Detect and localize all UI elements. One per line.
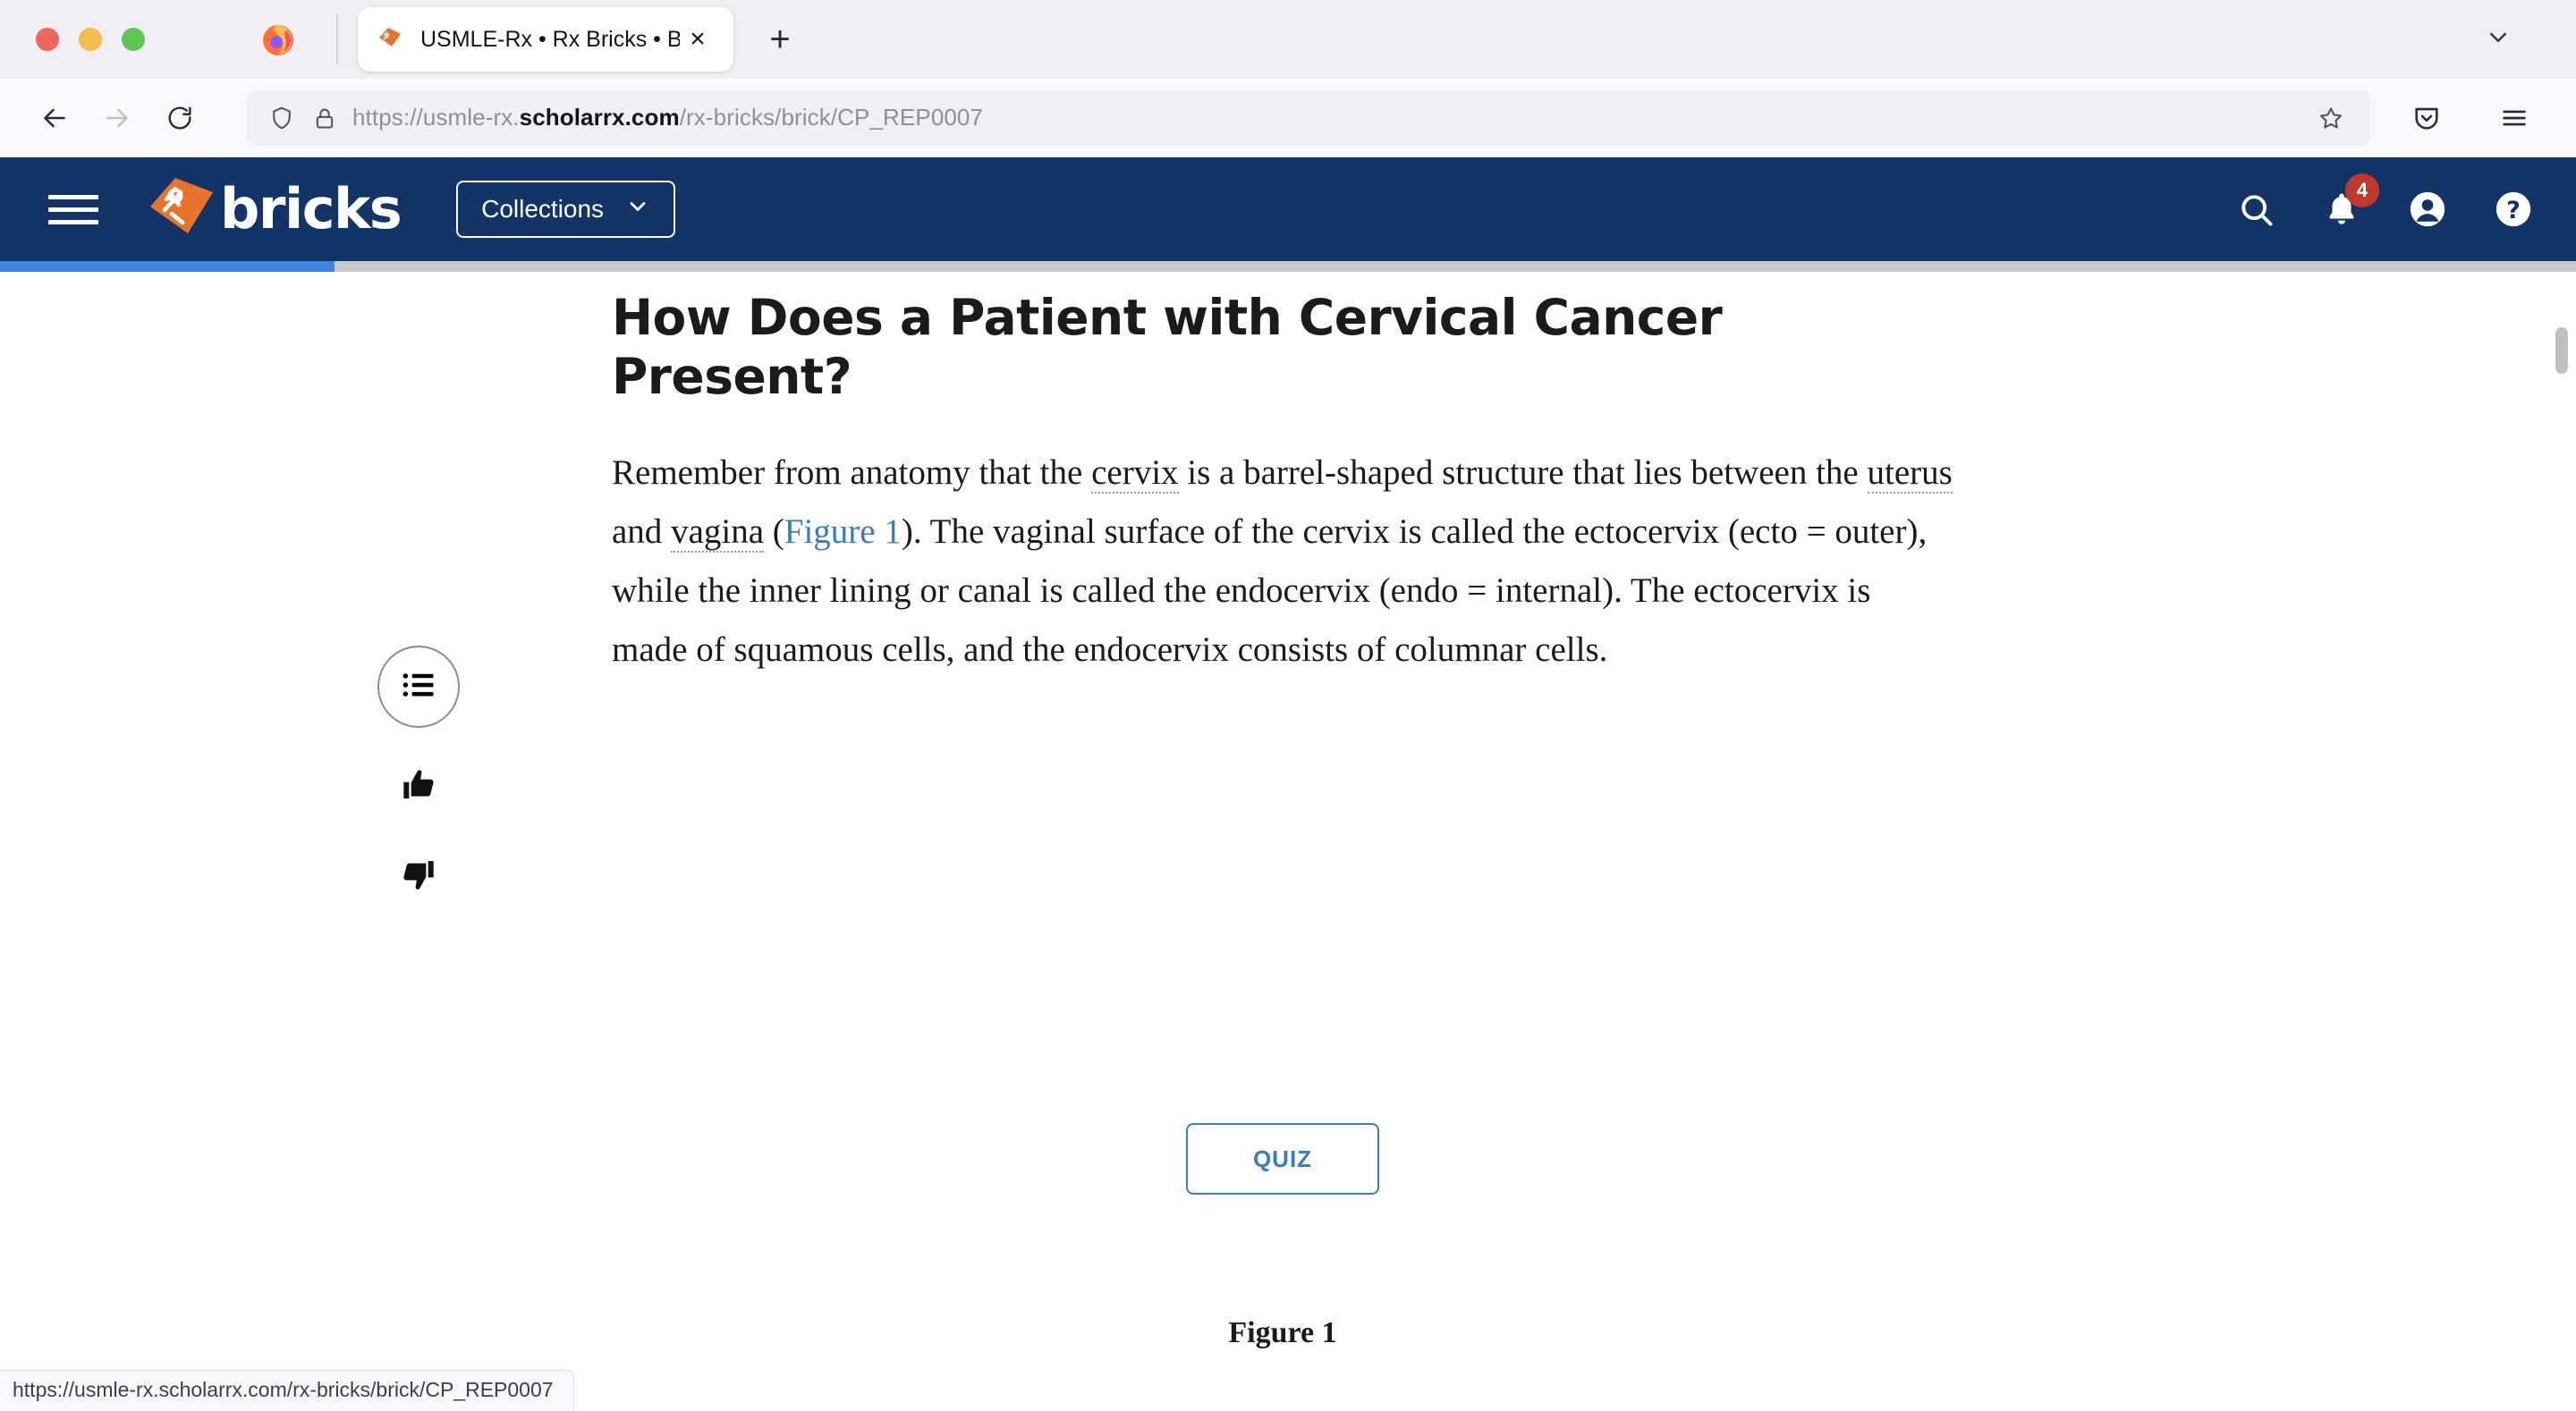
chevron-down-icon: [625, 194, 650, 225]
article-paragraph-1: Remember from anatomy that the cervix is…: [612, 444, 1953, 680]
account-icon[interactable]: [2406, 188, 2449, 231]
scrollbar-thumb[interactable]: [2555, 327, 2568, 374]
url-path: /rx-bricks/brick/CP_REP0007: [680, 104, 983, 131]
minimize-window-button[interactable]: [79, 28, 102, 51]
web-page: bricks Collections: [0, 157, 2576, 1411]
article-body: How Does a Patient with Cervical Cancer …: [612, 272, 1953, 680]
glossary-term-vagina[interactable]: vagina: [671, 512, 764, 553]
navigation-toolbar: https://usmle-rx.scholarrx.com/rx-bricks…: [0, 79, 2576, 157]
site-menu-button[interactable]: [48, 195, 98, 224]
text-segment: and: [612, 512, 671, 551]
quiz-button[interactable]: QUIZ: [1186, 1123, 1379, 1195]
collections-label: Collections: [481, 195, 604, 224]
url-text[interactable]: https://usmle-rx.scholarrx.com/rx-bricks…: [352, 104, 2311, 131]
thumbs-up-button[interactable]: [392, 760, 445, 814]
svg-text:?: ?: [2506, 197, 2521, 224]
pocket-save-icon[interactable]: [2399, 90, 2454, 146]
page-content: How Does a Patient with Cervical Cancer …: [0, 272, 2576, 1411]
tab-strip: USMLE-Rx • Rx Bricks • Brick × +: [0, 0, 2576, 79]
quiz-section: QUIZ: [612, 1123, 1953, 1195]
notifications-bell-icon[interactable]: 4: [2320, 188, 2363, 231]
list-icon: [399, 665, 438, 709]
thumbs-down-button[interactable]: [392, 849, 445, 903]
back-button[interactable]: [27, 90, 82, 146]
status-bar-url: https://usmle-rx.scholarrx.com/rx-bricks…: [0, 1370, 574, 1411]
reload-button[interactable]: [152, 90, 208, 146]
site-header: bricks Collections: [0, 157, 2576, 261]
address-bar[interactable]: https://usmle-rx.scholarrx.com/rx-bricks…: [247, 90, 2370, 146]
tab-favicon-icon: [376, 25, 404, 54]
list-all-tabs-icon[interactable]: [2483, 22, 2513, 57]
bookmark-star-icon[interactable]: [2311, 98, 2351, 138]
window-controls: [36, 28, 145, 51]
new-tab-button[interactable]: +: [757, 16, 803, 63]
text-segment: is a barrel-shaped structure that lies b…: [1179, 453, 1868, 492]
browser-tab[interactable]: USMLE-Rx • Rx Bricks • Brick ×: [358, 7, 733, 72]
help-icon[interactable]: ?: [2492, 188, 2535, 231]
tab-divider: [336, 14, 338, 64]
browser-window: USMLE-Rx • Rx Bricks • Brick × +: [0, 0, 2576, 1411]
shield-icon[interactable]: [267, 103, 297, 133]
figure-caption: Figure 1: [612, 1316, 1953, 1350]
url-prefix: https://usmle-rx.: [352, 104, 520, 131]
firefox-logo-icon: [259, 21, 297, 58]
reading-progress-track: [0, 261, 2576, 272]
site-logo[interactable]: bricks: [145, 173, 401, 245]
forward-button[interactable]: [89, 90, 145, 146]
figure-1-link[interactable]: Figure 1: [784, 512, 902, 551]
article-side-tools: [377, 646, 460, 903]
header-actions: 4 ?: [2234, 188, 2535, 231]
site-logo-text: bricks: [220, 182, 401, 237]
maximize-window-button[interactable]: [122, 28, 145, 51]
reading-progress-fill: [0, 261, 335, 272]
search-icon[interactable]: [2234, 188, 2277, 231]
toolbar-actions: [2399, 90, 2549, 146]
tab-title: USMLE-Rx • Rx Bricks • Brick: [420, 27, 680, 53]
text-segment: Remember from anatomy that the: [612, 453, 1091, 492]
rx-diamond-icon: [145, 174, 218, 244]
table-of-contents-button[interactable]: [377, 646, 460, 728]
glossary-term-uterus[interactable]: uterus: [1868, 453, 1953, 494]
collections-dropdown[interactable]: Collections: [456, 181, 675, 238]
thumbs-up-icon: [401, 767, 436, 807]
page-scrollbar[interactable]: [2553, 272, 2569, 1411]
close-tab-button[interactable]: ×: [680, 21, 716, 57]
page-title: How Does a Patient with Cervical Cancer …: [612, 288, 1953, 406]
glossary-term-cervix[interactable]: cervix: [1091, 453, 1178, 494]
notification-badge: 4: [2345, 173, 2379, 207]
app-menu-button[interactable]: [2487, 90, 2542, 146]
close-window-button[interactable]: [36, 28, 59, 51]
url-domain: scholarrx.com: [520, 104, 680, 131]
text-segment: (: [764, 512, 784, 551]
thumbs-down-icon: [401, 857, 436, 897]
lock-icon[interactable]: [309, 103, 340, 133]
